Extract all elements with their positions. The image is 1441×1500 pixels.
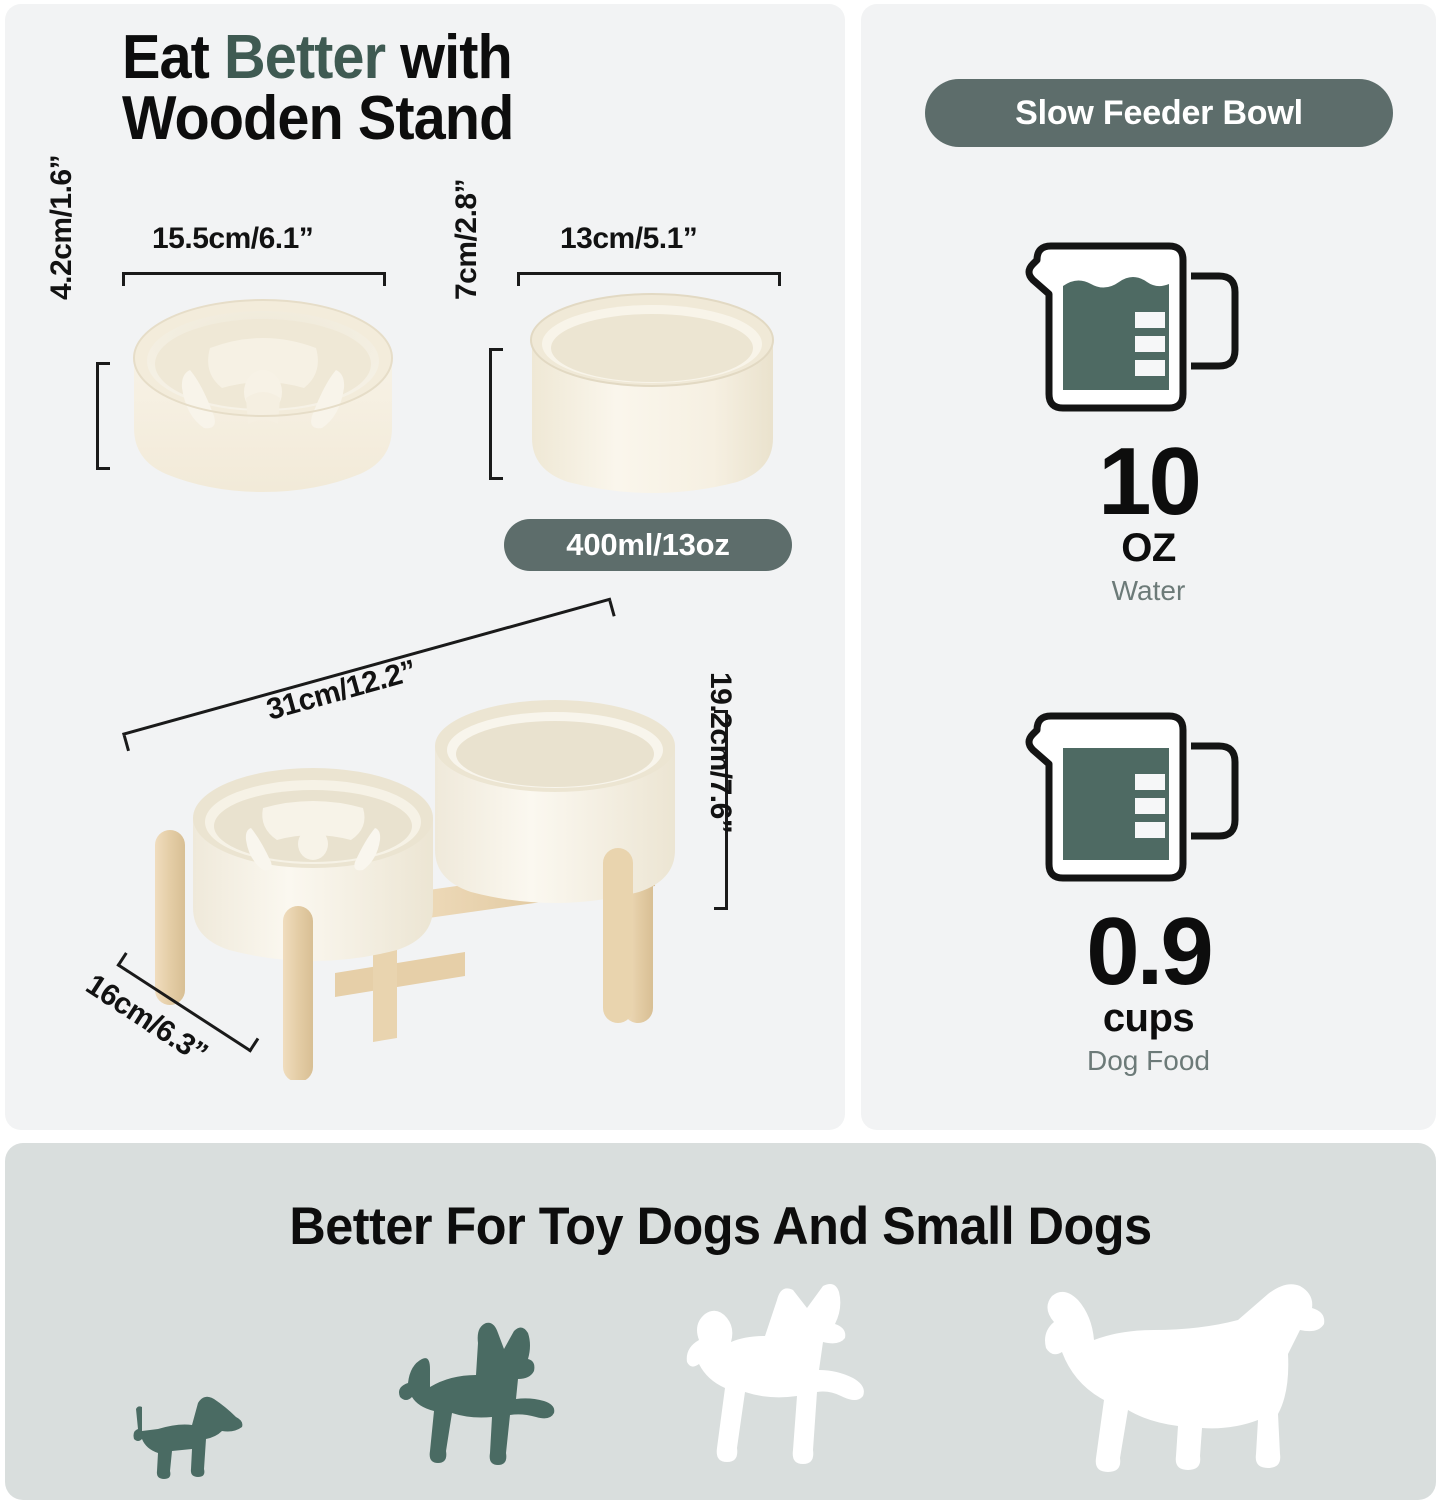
small-dog-silhouette-icon — [384, 1313, 564, 1493]
food-amount-value: 0.9 — [861, 906, 1436, 997]
plain-bowl-image — [510, 288, 795, 503]
food-amount-label: Dog Food — [861, 1045, 1436, 1077]
slow-feeder-bowl-image — [118, 288, 408, 513]
dim-bowl-width: 13cm/5.1” — [560, 222, 697, 256]
slow-feeder-badge: Slow Feeder Bowl — [925, 79, 1393, 147]
bracket-bowl-height — [489, 348, 503, 480]
headline-part-2: with — [385, 23, 512, 92]
dog-sizes-title: Better For Toy Dogs And Small Dogs — [36, 1196, 1405, 1257]
water-amount-label: Water — [861, 575, 1436, 607]
measuring-cup-water-icon — [861, 238, 1436, 418]
headline-part-1: Eat — [122, 23, 224, 92]
volume-badge: 400ml/13oz — [504, 519, 792, 571]
bracket-bowl-width — [517, 272, 781, 286]
dim-bowl-height: 7cm/2.8” — [450, 179, 484, 300]
large-dog-silhouette-icon — [1032, 1268, 1332, 1493]
dim-stand-height: 19.2cm/7.6” — [703, 672, 737, 833]
capacity-stat-food: 0.9 cups Dog Food — [861, 708, 1436, 1077]
dim-feeder-width: 15.5cm/6.1” — [152, 222, 313, 256]
bracket-feeder-height — [96, 362, 110, 470]
dim-feeder-height: 4.2cm/1.6” — [45, 155, 79, 300]
capacity-stat-water: 10 OZ Water — [861, 238, 1436, 607]
medium-dog-silhouette-icon — [681, 1278, 916, 1493]
headline-accent: Better — [224, 23, 385, 92]
water-amount-unit: OZ — [861, 527, 1436, 569]
bracket-feeder-width — [122, 272, 386, 286]
dog-silhouette-row — [60, 1268, 1390, 1493]
page-title: Eat Better with Wooden Stand — [122, 28, 773, 150]
food-amount-unit: cups — [861, 997, 1436, 1039]
water-amount-value: 10 — [861, 436, 1436, 527]
toy-dog-silhouette-icon — [118, 1373, 268, 1493]
headline-line-2: Wooden Stand — [122, 84, 513, 153]
double-bowl-stand-image — [135, 690, 715, 1080]
infographic-page: Eat Better with Wooden Stand — [0, 0, 1441, 1500]
measuring-cup-food-icon — [861, 708, 1436, 888]
